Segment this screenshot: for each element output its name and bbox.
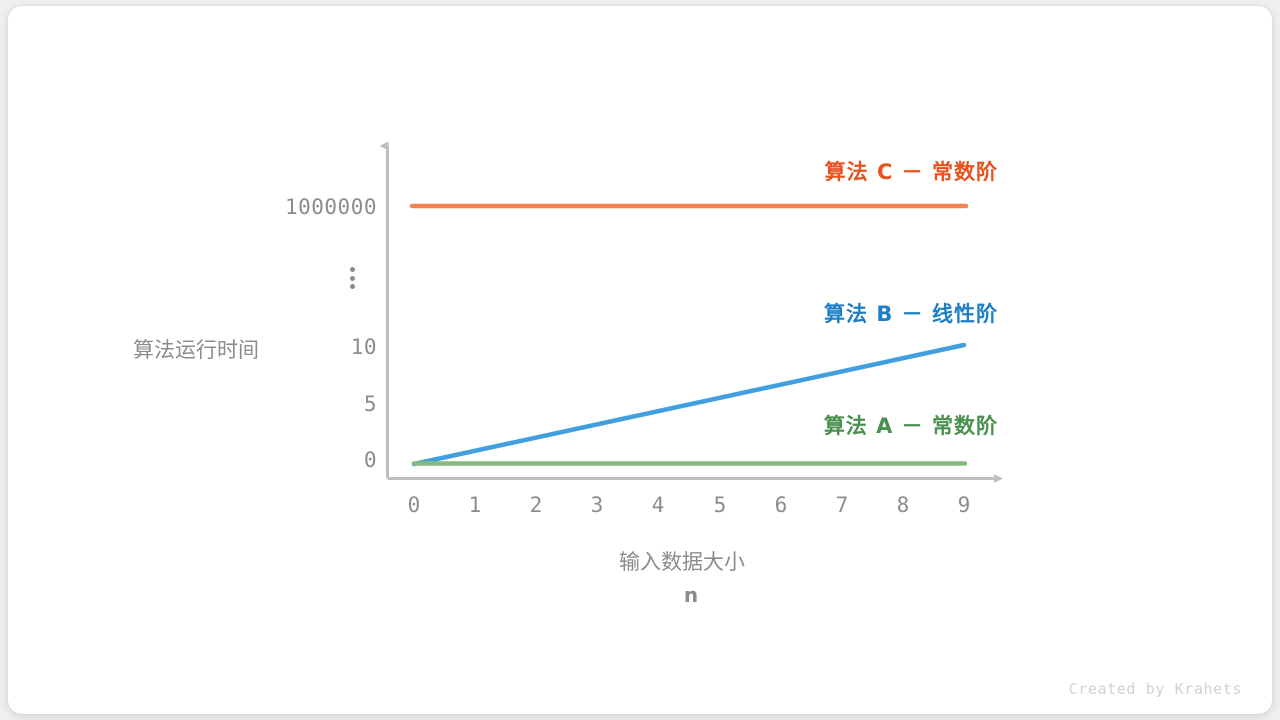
x-tick-label-0: 0 — [394, 493, 434, 517]
x-tick-label-7: 7 — [822, 493, 862, 517]
y-tick-label-5: 5 — [157, 392, 377, 416]
x-tick-label-1: 1 — [455, 493, 495, 517]
x-tick-label-5: 5 — [700, 493, 740, 517]
series-line-algorithm-b — [414, 345, 964, 464]
x-tick-label-8: 8 — [883, 493, 923, 517]
chart-canvas: 1000000 10 5 0 0 1 2 3 4 5 6 7 8 9 算法运行时… — [0, 0, 1280, 720]
legend-label-algorithm-a: 算法 A － 常数阶 — [578, 410, 998, 440]
ellipsis-dot — [350, 276, 355, 281]
x-tick-label-4: 4 — [638, 493, 678, 517]
x-tick-label-3: 3 — [577, 493, 617, 517]
y-axis-ellipsis-dots — [350, 267, 355, 289]
footer-credit: Created by Krahets — [1069, 680, 1242, 698]
ellipsis-dot — [350, 267, 355, 272]
x-tick-label-6: 6 — [761, 493, 801, 517]
legend-label-algorithm-c: 算法 C － 常数阶 — [578, 156, 998, 186]
x-axis-title-variable: n — [620, 583, 762, 607]
ellipsis-dot — [350, 284, 355, 289]
x-axis-title: 输入数据大小 — [619, 546, 745, 576]
legend-label-algorithm-b: 算法 B － 线性阶 — [578, 298, 998, 328]
y-axis-title: 算法运行时间 — [133, 334, 259, 364]
y-tick-label-0: 0 — [157, 448, 377, 472]
x-tick-label-2: 2 — [516, 493, 556, 517]
x-tick-label-9: 9 — [944, 493, 984, 517]
y-tick-label-1000000: 1000000 — [157, 195, 377, 219]
